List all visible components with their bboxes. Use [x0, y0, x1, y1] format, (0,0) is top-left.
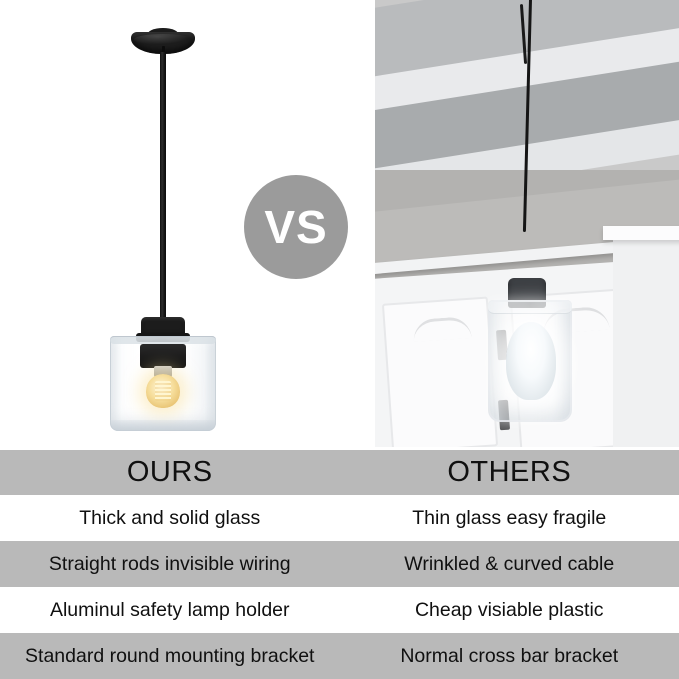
- table-header-row: OURS OTHERS: [0, 450, 679, 495]
- thin-shade-rim: [488, 300, 572, 314]
- table-row: Aluminul safety lamp holder Cheap visiab…: [0, 587, 679, 633]
- cabinet-column-right: [613, 232, 679, 447]
- cabinet-column-crown: [603, 226, 679, 240]
- vs-badge: VS: [244, 175, 348, 279]
- table-row: Standard round mounting bracket Normal c…: [0, 633, 679, 679]
- table-row: Straight rods invisible wiring Wrinkled …: [0, 541, 679, 587]
- table-row: Thick and solid glass Thin glass easy fr…: [0, 495, 679, 541]
- header-ours: OURS: [0, 450, 340, 495]
- header-others: OTHERS: [340, 450, 679, 495]
- shade-bottom-rim: [110, 420, 216, 431]
- vs-label: VS: [264, 204, 327, 250]
- inner-socket: [140, 344, 186, 368]
- others-product-image: [375, 0, 679, 447]
- cell-ours: Aluminul safety lamp holder: [0, 587, 340, 633]
- straight-rod: [160, 52, 166, 320]
- bulb-filament: [155, 381, 171, 401]
- cell-others: Normal cross bar bracket: [340, 633, 679, 679]
- product-comparison-images: VS: [0, 0, 679, 450]
- comparison-table: OURS OTHERS Thick and solid glass Thin g…: [0, 450, 679, 679]
- cell-others: Wrinkled & curved cable: [340, 541, 679, 587]
- cell-others: Cheap visiable plastic: [340, 587, 679, 633]
- lit-bulb: [506, 322, 556, 400]
- cell-ours: Standard round mounting bracket: [0, 633, 340, 679]
- cell-ours: Thick and solid glass: [0, 495, 340, 541]
- cell-others: Thin glass easy fragile: [340, 495, 679, 541]
- cell-ours: Straight rods invisible wiring: [0, 541, 340, 587]
- shade-top-rim: [110, 336, 216, 344]
- comparison-infographic: VS OURS OTHERS Thick and solid glass Thi…: [0, 0, 679, 679]
